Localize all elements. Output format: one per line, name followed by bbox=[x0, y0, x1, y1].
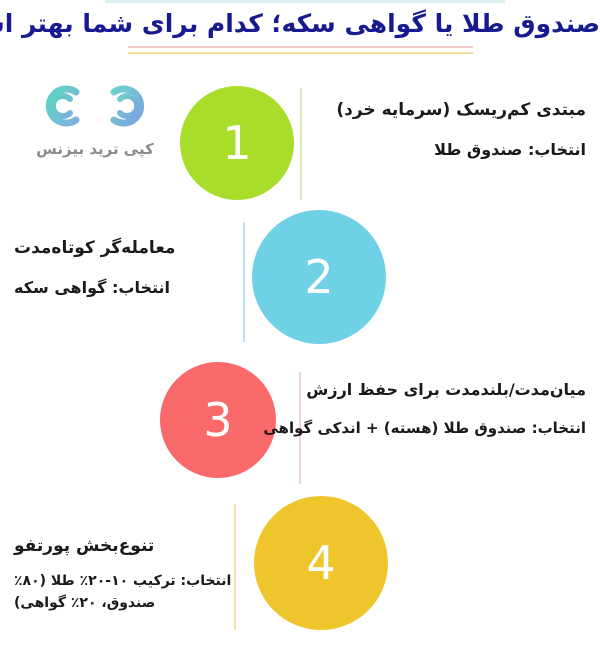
step-heading-3: میان‌مدت/بلندمدت برای حفظ ارزش bbox=[294, 380, 586, 399]
step-heading-2: معامله‌گر کوتاه‌مدت bbox=[14, 238, 244, 258]
step-connector-1 bbox=[300, 88, 302, 200]
step-heading-1: مبتدی کم‌ریسک (سرمایه خرد) bbox=[318, 100, 586, 120]
step-circle-3[interactable]: 3 bbox=[160, 362, 276, 478]
step-row-4: 4 تنوع‌بخش پورتفو انتخاب: ترکیب ۱۰-۲۰٪ ط… bbox=[0, 488, 600, 638]
step-choice-3: انتخاب: صندوق طلا (هسته) + اندکی گواهی bbox=[294, 419, 586, 437]
step-choice-4: انتخاب: ترکیب ۱۰-۲۰٪ طلا (۸۰٪ صندوق، ۲۰٪… bbox=[14, 570, 236, 615]
page-title-container: صندوق طلا یا گواهی سکه؛ کدام برای شما به… bbox=[0, 8, 600, 39]
step-circle-1[interactable]: 1 bbox=[180, 86, 294, 200]
step-text-4: تنوع‌بخش پورتفو انتخاب: ترکیب ۱۰-۲۰٪ طلا… bbox=[14, 536, 236, 615]
title-underline-pink bbox=[128, 46, 473, 48]
step-circle-4[interactable]: 4 bbox=[254, 496, 388, 630]
top-divider bbox=[105, 0, 505, 3]
step-row-2: 2 معامله‌گر کوتاه‌مدت انتخاب: گواهی سکه bbox=[0, 196, 600, 346]
step-text-1: مبتدی کم‌ریسک (سرمایه خرد) انتخاب: صندوق… bbox=[318, 100, 586, 159]
page-title: صندوق طلا یا گواهی سکه؛ کدام برای شما به… bbox=[0, 8, 600, 39]
step-text-2: معامله‌گر کوتاه‌مدت انتخاب: گواهی سکه bbox=[14, 238, 244, 297]
step-number-1: 1 bbox=[222, 120, 251, 166]
step-text-3: میان‌مدت/بلندمدت برای حفظ ارزش انتخاب: ص… bbox=[294, 380, 586, 437]
step-choice-2: انتخاب: گواهی سکه bbox=[14, 278, 244, 297]
step-row-3: 3 میان‌مدت/بلندمدت برای حفظ ارزش انتخاب:… bbox=[0, 352, 600, 502]
title-underline-yellow bbox=[128, 52, 473, 54]
step-number-2: 2 bbox=[304, 254, 333, 300]
step-heading-4: تنوع‌بخش پورتفو bbox=[14, 536, 236, 556]
step-number-3: 3 bbox=[203, 397, 232, 443]
step-circle-2[interactable]: 2 bbox=[252, 210, 386, 344]
step-number-4: 4 bbox=[306, 540, 335, 586]
step-choice-1: انتخاب: صندوق طلا bbox=[318, 140, 586, 159]
